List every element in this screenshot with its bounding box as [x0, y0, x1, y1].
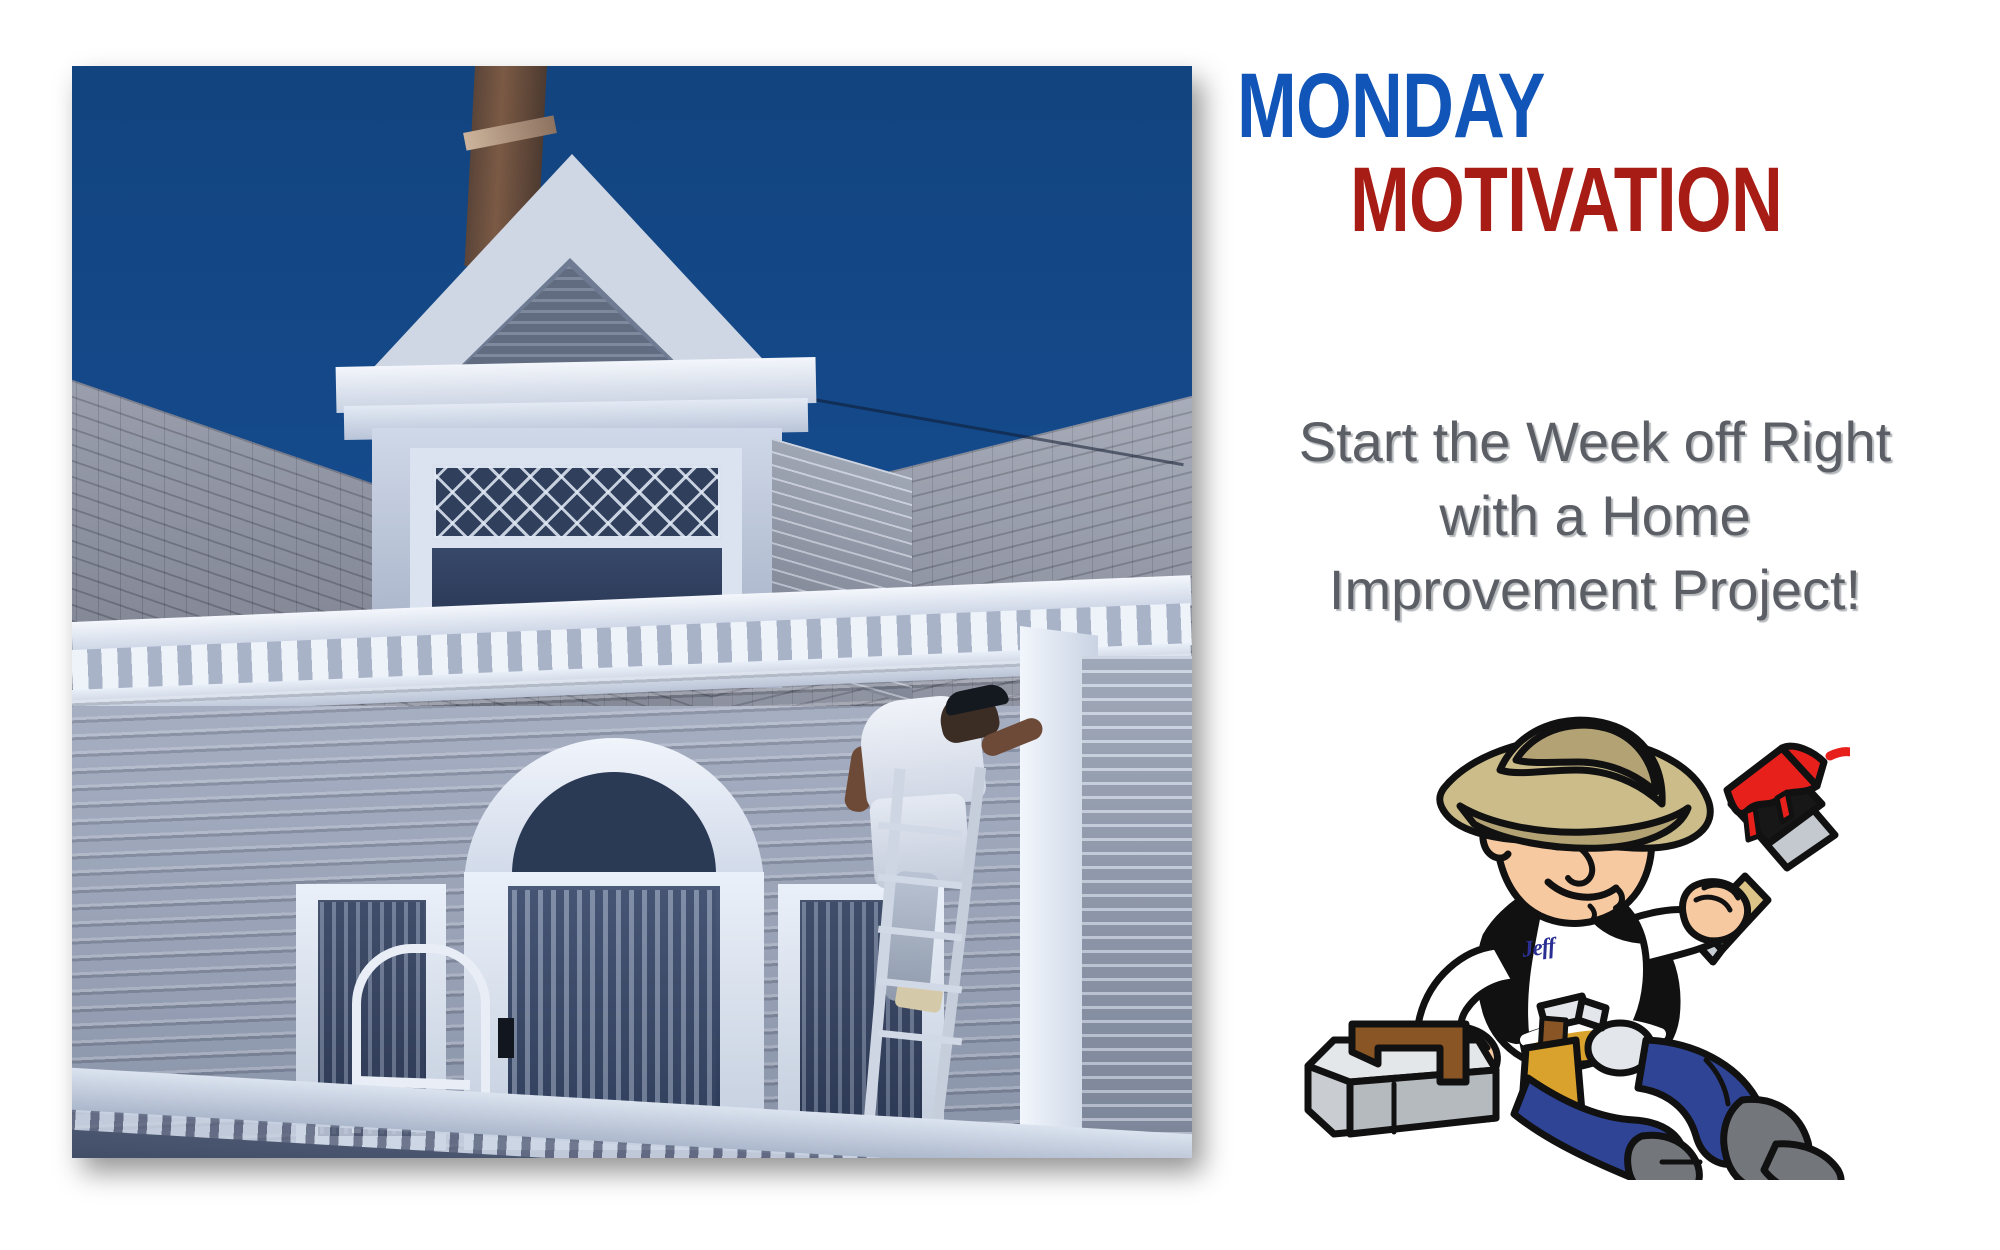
- arched-window-curtain: [512, 890, 716, 1122]
- mascot-shirt-name: Jeff: [1521, 933, 1557, 963]
- tagline-line-1: Start the Week off Right: [1205, 405, 1985, 479]
- diamond-lattice-grid: [434, 466, 720, 538]
- poster-canvas: MONDAY MOTIVATION Start the Week off Rig…: [0, 0, 2000, 1250]
- house-painting-photo: [72, 66, 1192, 1158]
- tagline-block: Start the Week off Right with a Home Imp…: [1205, 405, 1985, 627]
- headline-block: MONDAY MOTIVATION: [1205, 62, 2000, 245]
- bay-side-wall-texture: [1082, 656, 1192, 1158]
- tagline-line-3: Improvement Project!: [1205, 553, 1985, 627]
- tagline-line-2: with a Home: [1205, 479, 1985, 553]
- headline-motivation: MOTIVATION: [1350, 156, 1857, 244]
- headline-monday: MONDAY: [1237, 62, 1832, 150]
- handyman-mascot: Jeff: [1290, 700, 1850, 1180]
- door-hardware: [498, 1018, 514, 1058]
